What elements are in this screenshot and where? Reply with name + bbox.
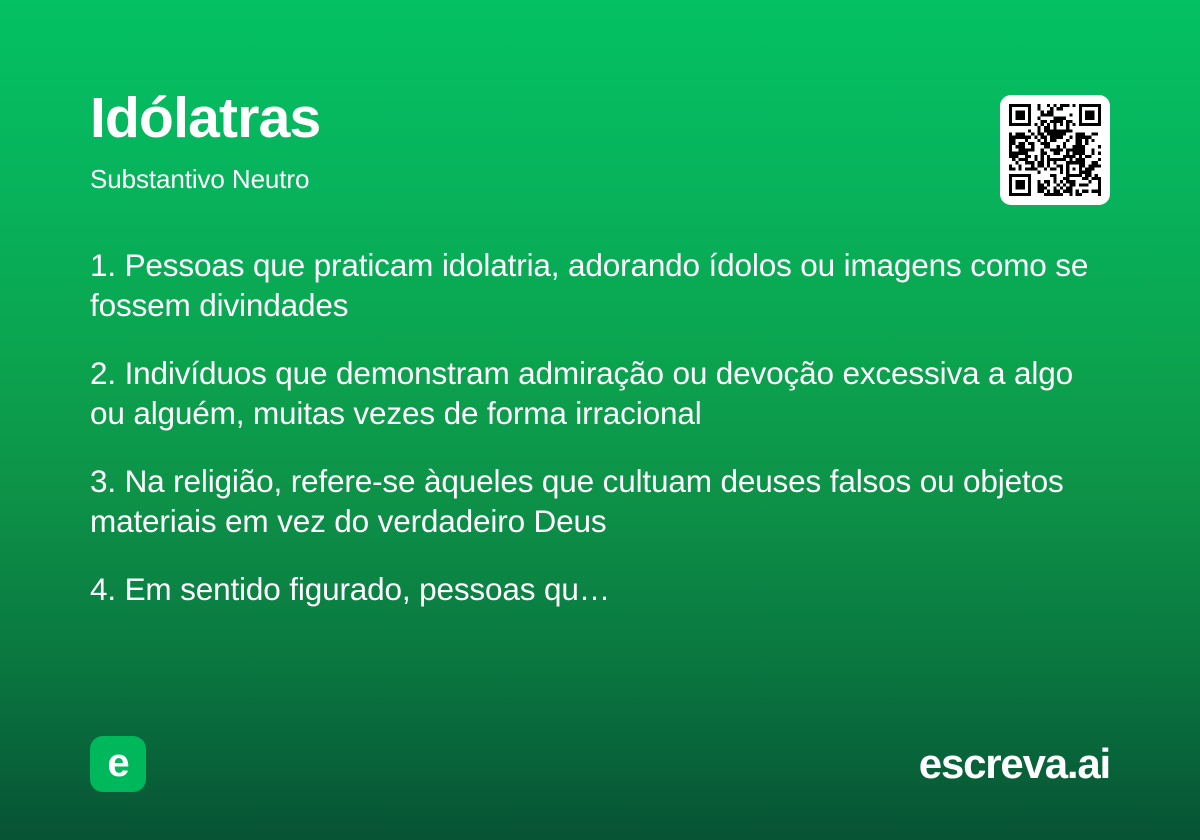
- definition-card: Idólatras Substantivo Neutro 1. Pessoas …: [0, 0, 1200, 840]
- brand-logo-mark: e: [90, 736, 146, 792]
- definition-item: 3. Na religião, refere-se àqueles que cu…: [90, 462, 1095, 541]
- brand-wordmark: escreva.ai: [919, 743, 1110, 785]
- word-class-subtitle: Substantivo Neutro: [90, 166, 320, 192]
- qr-code-card[interactable]: [1000, 95, 1110, 205]
- qr-code-icon: [1009, 104, 1101, 196]
- card-footer: e escreva.ai: [90, 736, 1110, 792]
- brand-logo-letter: e: [107, 743, 128, 783]
- heading-group: Idólatras Substantivo Neutro: [90, 86, 320, 192]
- page-title: Idólatras: [90, 90, 320, 147]
- card-header: Idólatras Substantivo Neutro: [90, 86, 1110, 205]
- definition-item: 4. Em sentido figurado, pessoas qu…: [90, 570, 1095, 610]
- definition-list: 1. Pessoas que praticam idolatria, adora…: [90, 246, 1095, 610]
- definition-item: 2. Indivíduos que demonstram admiração o…: [90, 354, 1095, 433]
- definition-item: 1. Pessoas que praticam idolatria, adora…: [90, 246, 1095, 325]
